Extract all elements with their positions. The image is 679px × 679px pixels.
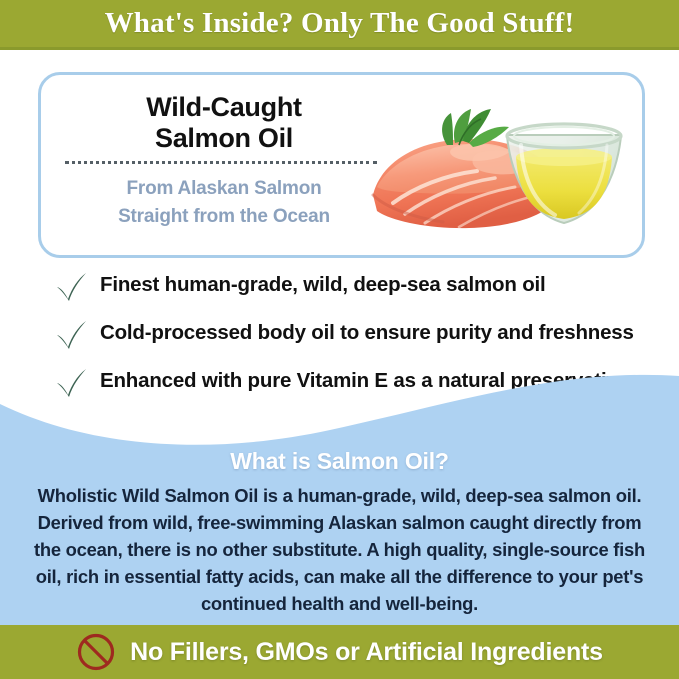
info-section: What is Salmon Oil? Wholistic Wild Salmo… xyxy=(0,360,679,625)
product-heading-line2: Salmon Oil xyxy=(155,123,293,153)
product-infographic: What's Inside? Only The Good Stuff! Wild… xyxy=(0,0,679,679)
salmon-oil-illustration xyxy=(359,83,639,253)
check-icon xyxy=(54,272,88,302)
parsley-garnish-graphic xyxy=(442,109,509,147)
feature-item: Finest human-grade, wild, deep-sea salmo… xyxy=(52,272,642,306)
product-card-heading: Wild-Caught Salmon Oil xyxy=(59,92,389,154)
feature-text: Cold-processed body oil to ensure purity… xyxy=(100,321,634,344)
feature-item: Cold-processed body oil to ensure purity… xyxy=(52,320,642,354)
top-banner: What's Inside? Only The Good Stuff! xyxy=(0,0,679,50)
top-banner-title: What's Inside? Only The Good Stuff! xyxy=(105,7,575,40)
product-subtitle-line2: Straight from the Ocean xyxy=(118,206,330,227)
bottom-banner-title: No Fillers, GMOs or Artificial Ingredien… xyxy=(130,638,603,667)
info-section-paragraph: Wholistic Wild Salmon Oil is a human-gra… xyxy=(26,482,653,617)
bottom-banner: No Fillers, GMOs or Artificial Ingredien… xyxy=(0,625,679,679)
dotted-divider xyxy=(65,161,377,167)
product-heading-line1: Wild-Caught xyxy=(146,92,301,122)
info-section-heading: What is Salmon Oil? xyxy=(0,448,679,475)
feature-text: Finest human-grade, wild, deep-sea salmo… xyxy=(100,273,546,296)
check-icon xyxy=(54,320,88,350)
product-card-subtitle: From Alaskan Salmon Straight from the Oc… xyxy=(59,175,389,231)
salmon-and-oil-image xyxy=(359,83,639,253)
prohibition-icon xyxy=(76,632,116,672)
product-card: Wild-Caught Salmon Oil From Alaskan Salm… xyxy=(38,72,645,258)
product-subtitle-line1: From Alaskan Salmon xyxy=(126,178,321,199)
